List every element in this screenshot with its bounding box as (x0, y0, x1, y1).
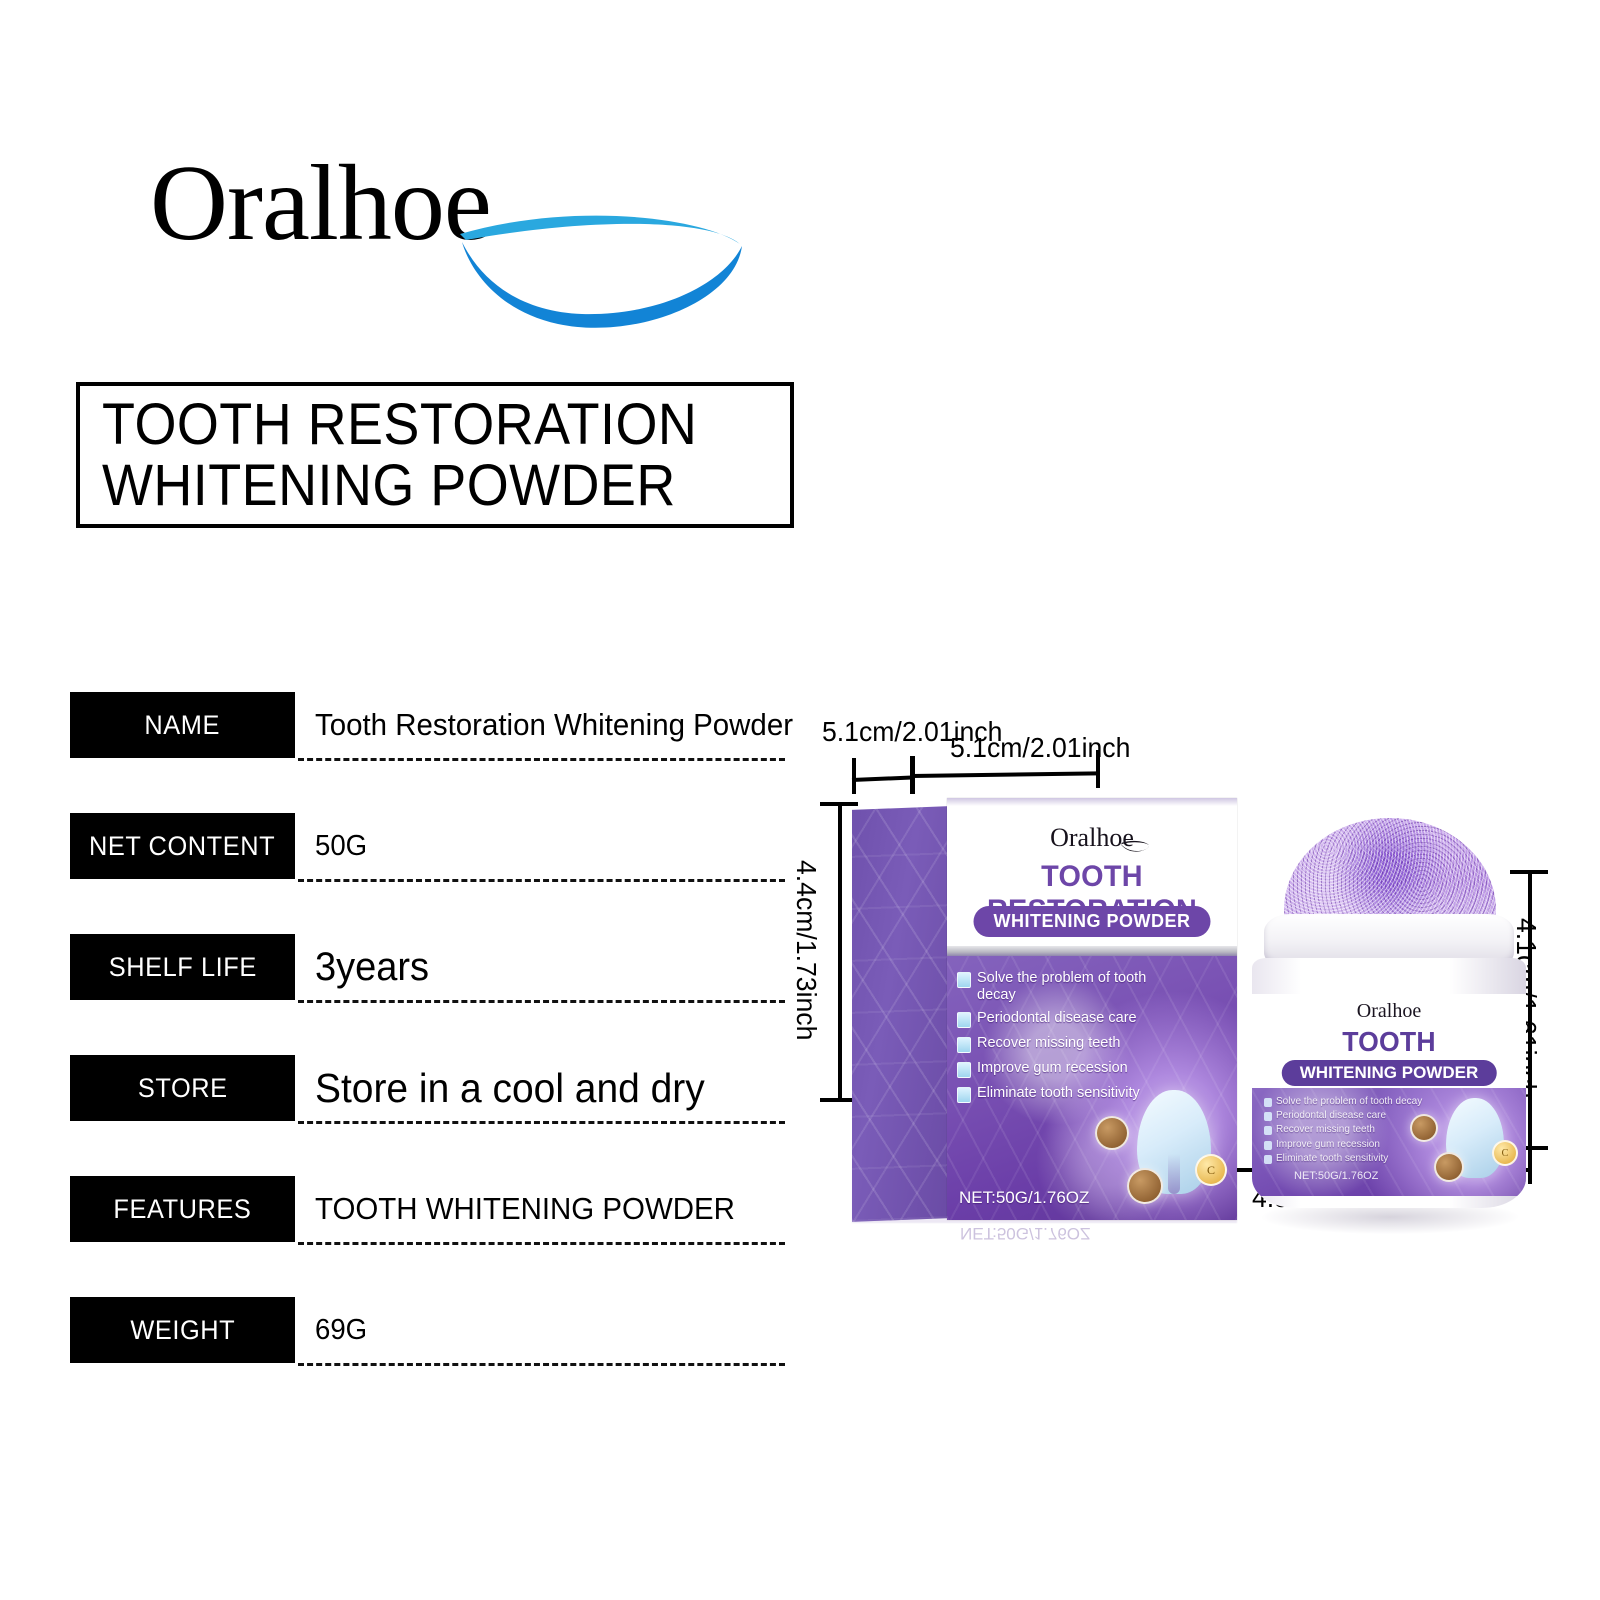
box-bullet-text: Recover missing teeth (977, 1035, 1120, 1052)
spec-key-shelf-life: SHELF LIFE (70, 934, 295, 1000)
list-item: Periodontal disease care (957, 1010, 1172, 1028)
box-benefit-list: Solve the problem of tooth decay Periodo… (957, 970, 1172, 1110)
jar-bullet-text: Solve the problem of tooth decay (1276, 1096, 1422, 1108)
specification-table: NAME Tooth Restoration Whitening Powder … (70, 692, 785, 1418)
box-net-weight: NET:50G/1.76OZ (959, 1188, 1089, 1208)
dim-label-box-height: 4.4cm/1.73inch (790, 860, 822, 1040)
spec-value-label: 50G (315, 830, 367, 863)
list-item: Solve the problem of tooth decay (1264, 1096, 1434, 1108)
box-bullet-text: Periodontal disease care (977, 1010, 1137, 1027)
dim-line-box-depth (852, 775, 912, 782)
jar-bullet-text: Improve gum recession (1276, 1139, 1380, 1151)
product-package-box: NET:50G/1.76OZ Oralhoe TOOTH RESTORATION… (852, 798, 1272, 1223)
box-top-edge (947, 798, 1237, 806)
page-title-box: TOOTH RESTORATION WHITENING POWDER (76, 382, 794, 528)
list-item: Recover missing teeth (957, 1035, 1172, 1053)
product-image-area: 5.1cm/2.01inch 5.1cm/2.01inch 4.4cm/1.73… (800, 690, 1590, 1250)
dim-line-box-width (912, 771, 1098, 778)
product-jar: Oralhoe TOOTH RESTORATION WHITENING POWD… (1242, 818, 1542, 1238)
jar-label: Oralhoe TOOTH RESTORATION WHITENING POWD… (1252, 994, 1526, 1196)
spec-key-label: STORE (138, 1073, 228, 1104)
brand-wordmark: Oralhoe (150, 150, 491, 258)
table-row: FEATURES TOOTH WHITENING POWDER (70, 1176, 785, 1297)
spec-value-weight: 69G (315, 1297, 785, 1363)
spec-value-shelf-life: 3years (315, 934, 785, 1000)
ingredient-circle-icon (1095, 1116, 1129, 1150)
vitamin-c-icon: C (1492, 1140, 1518, 1166)
box-bullet-text: Improve gum recession (977, 1060, 1128, 1077)
jar-bullet-text: Eliminate tooth sensitivity (1276, 1153, 1388, 1165)
jar-bullet-text: Recover missing teeth (1276, 1124, 1375, 1136)
box-divider (947, 946, 1237, 956)
ingredient-circle-icon (1434, 1152, 1464, 1182)
list-item: Eliminate tooth sensitivity (957, 1085, 1172, 1103)
spec-key-store: STORE (70, 1055, 295, 1121)
row-dashed-rule (298, 1121, 785, 1124)
swoosh-icon (450, 208, 750, 333)
spec-key-label: SHELF LIFE (108, 952, 256, 983)
row-dashed-rule (298, 1363, 785, 1366)
box-brand-logo: Oralhoe (947, 823, 1237, 853)
list-item: Eliminate tooth sensitivity (1264, 1153, 1434, 1165)
box-lower-panel: Solve the problem of tooth decay Periodo… (947, 956, 1237, 1220)
dim-tick-depth-left (852, 758, 856, 794)
tooth-chip-icon (1264, 1112, 1272, 1121)
list-item: Periodontal disease care (1264, 1110, 1434, 1122)
tooth-chip-icon (1264, 1126, 1272, 1135)
jar-body: Oralhoe TOOTH RESTORATION WHITENING POWD… (1252, 958, 1526, 1208)
spec-value-features: TOOTH WHITENING POWDER (315, 1176, 785, 1242)
page-title-line-2: WHITENING POWDER (102, 455, 742, 516)
spec-key-features: FEATURES (70, 1176, 295, 1242)
page-title-line-1: TOOTH RESTORATION (102, 394, 742, 455)
box-side-panel (852, 806, 949, 1222)
dim-label-box-width: 5.1cm/2.01inch (950, 732, 1130, 764)
tooth-chip-icon (957, 1087, 971, 1103)
ingredient-circle-icon (1127, 1168, 1163, 1204)
spec-value-store: Store in a cool and dry (315, 1055, 785, 1121)
table-row: NAME Tooth Restoration Whitening Powder (70, 692, 785, 813)
tooth-chip-icon (957, 972, 971, 988)
spec-key-label: FEATURES (113, 1194, 251, 1225)
box-subtitle-badge: WHITENING POWDER (974, 906, 1211, 937)
brand-logo: Oralhoe (150, 150, 750, 330)
spec-value-label: TOOTH WHITENING POWDER (315, 1191, 735, 1227)
dim-line-box-height (838, 802, 842, 1100)
tooth-chip-icon (957, 1012, 971, 1028)
table-row: SHELF LIFE 3years (70, 934, 785, 1055)
spec-value-label: Store in a cool and dry (315, 1065, 705, 1112)
box-bullet-text: Solve the problem of tooth decay (977, 970, 1172, 1003)
spec-key-weight: WEIGHT (70, 1297, 295, 1363)
box-front-panel: Oralhoe TOOTH RESTORATION WHITENING POWD… (947, 798, 1237, 1220)
spec-key-name: NAME (70, 692, 295, 758)
tooth-chip-icon (1264, 1098, 1272, 1107)
row-dashed-rule (298, 1242, 785, 1245)
spec-value-name: Tooth Restoration Whitening Powder (315, 692, 785, 758)
dim-tick-width-right (1096, 750, 1100, 788)
jar-benefit-list: Solve the problem of tooth decay Periodo… (1264, 1096, 1434, 1167)
list-item: Improve gum recession (1264, 1139, 1434, 1151)
jar-subtitle-badge: WHITENING POWDER (1282, 1060, 1497, 1086)
spec-value-net-content: 50G (315, 813, 785, 879)
row-dashed-rule (298, 879, 785, 882)
list-item: Recover missing teeth (1264, 1124, 1434, 1136)
ingredient-circle-icon (1410, 1114, 1438, 1142)
tooth-chip-icon (957, 1062, 971, 1078)
tooth-chip-icon (957, 1037, 971, 1053)
vitamin-c-icon: C (1195, 1154, 1227, 1186)
list-item: Improve gum recession (957, 1060, 1172, 1078)
spec-key-label: WEIGHT (130, 1315, 235, 1346)
jar-brand-text: Oralhoe (1357, 1000, 1421, 1022)
spec-key-label: NET CONTENT (89, 831, 275, 862)
spec-value-label: 69G (315, 1314, 367, 1347)
list-item: Solve the problem of tooth decay (957, 970, 1172, 1003)
jar-lower-panel: Solve the problem of tooth decay Periodo… (1252, 1088, 1526, 1196)
jar-bullet-text: Periodontal disease care (1276, 1110, 1386, 1122)
row-dashed-rule (298, 758, 785, 761)
table-row: WEIGHT 69G (70, 1297, 785, 1418)
table-row: STORE Store in a cool and dry (70, 1055, 785, 1176)
spec-key-label: NAME (145, 710, 221, 741)
box-reflection-net-text: NET:50G/1.76OZ (960, 1223, 1090, 1243)
jar-brand-logo: Oralhoe (1252, 1000, 1526, 1023)
row-dashed-rule (298, 1000, 785, 1003)
tooth-chip-icon (1264, 1141, 1272, 1150)
table-row: NET CONTENT 50G (70, 813, 785, 934)
spec-key-net-content: NET CONTENT (70, 813, 295, 879)
box-bullet-text: Eliminate tooth sensitivity (977, 1085, 1140, 1102)
tooth-chip-icon (1264, 1155, 1272, 1164)
jar-net-weight: NET:50G/1.76OZ (1294, 1170, 1378, 1182)
box-swoosh-icon (1120, 840, 1150, 853)
spec-value-label: Tooth Restoration Whitening Powder (315, 707, 793, 743)
spec-value-label: 3years (315, 945, 429, 990)
